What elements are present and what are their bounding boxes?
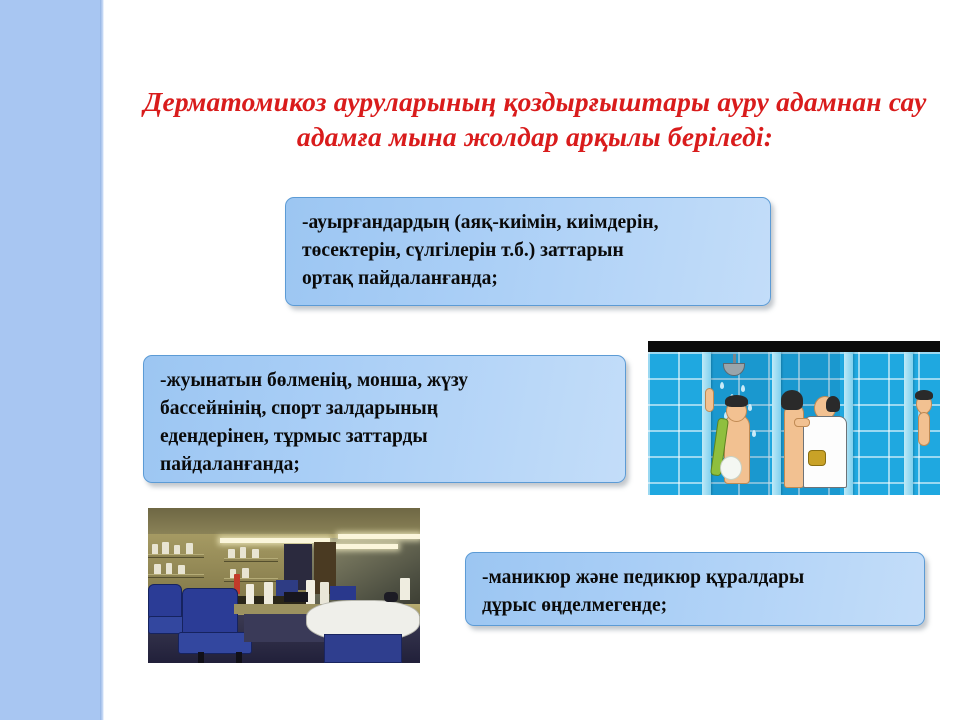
- product-bottle: [228, 549, 235, 558]
- bather-hair-mid: [781, 390, 803, 410]
- stall-divider-2: [772, 352, 781, 495]
- callout-box-shared-items: -ауырғандардың (аяқ-киімін, киімдерін, т…: [285, 197, 771, 306]
- doctor-arm: [794, 418, 810, 427]
- left-decorative-sidebar: [0, 0, 100, 720]
- pedicure-sink-base: [324, 634, 402, 663]
- counter-bottle: [246, 584, 254, 606]
- product-bottle: [154, 564, 161, 574]
- doctor-hair: [826, 396, 840, 412]
- stall-divider-4: [904, 352, 913, 495]
- wall-shelf: [148, 554, 204, 558]
- cartoon-top-black-bar: [648, 341, 940, 352]
- counter-dark-item: [284, 592, 308, 602]
- salon-ceiling: [148, 508, 420, 534]
- bather-arm-left: [705, 388, 714, 412]
- sink-bottle: [400, 578, 410, 600]
- salon-chair-seat: [178, 632, 252, 654]
- wall-shelf: [148, 574, 204, 578]
- counter-bottle: [264, 582, 273, 606]
- water-drop: [741, 385, 745, 392]
- product-bottle: [178, 565, 185, 574]
- bather-body-mid: [784, 404, 804, 488]
- nail-salon-photo-image: [148, 508, 420, 663]
- product-bottle: [152, 544, 158, 554]
- slide-canvas: Дерматомикоз ауруларының қоздырғыштары а…: [0, 0, 960, 720]
- product-bottle: [252, 549, 259, 558]
- wall-shelf: [224, 558, 278, 562]
- counter-blue-box: [330, 586, 356, 600]
- sidebar-edge-accent: [100, 0, 104, 720]
- page-title: Дерматомикоз ауруларының қоздырғыштары а…: [140, 84, 930, 154]
- product-bottle: [186, 543, 193, 554]
- product-bottle: [242, 568, 249, 578]
- coat-pocket-emblem: [808, 450, 826, 466]
- peeking-hair: [915, 390, 933, 400]
- shower-room-cartoon-image: [648, 341, 940, 495]
- water-drop: [752, 430, 756, 437]
- product-bottle: [162, 542, 169, 554]
- mirror-strip-light: [334, 544, 398, 549]
- soap-foam: [720, 456, 742, 480]
- water-drop: [748, 404, 752, 411]
- chair-leg: [198, 652, 204, 663]
- salon-chair-back: [148, 584, 182, 618]
- bather-hair-left: [725, 395, 748, 407]
- water-drop: [720, 382, 724, 389]
- cartoon-tiled-scene: [648, 352, 940, 495]
- product-bottle: [240, 547, 246, 558]
- sink-faucet: [384, 592, 398, 602]
- ceiling-strip-light: [338, 534, 420, 539]
- callout-box-public-floors: -жуынатын бөлменің, монша, жүзу бассейні…: [143, 355, 626, 483]
- stall-divider-1: [702, 352, 711, 495]
- peeking-body: [918, 412, 930, 446]
- product-bottle: [174, 545, 180, 554]
- product-bottle: [166, 563, 172, 574]
- callout-box-manicure-tools: -маникюр және педикюр құралдары дұрыс өң…: [465, 552, 925, 626]
- chair-leg: [236, 652, 242, 663]
